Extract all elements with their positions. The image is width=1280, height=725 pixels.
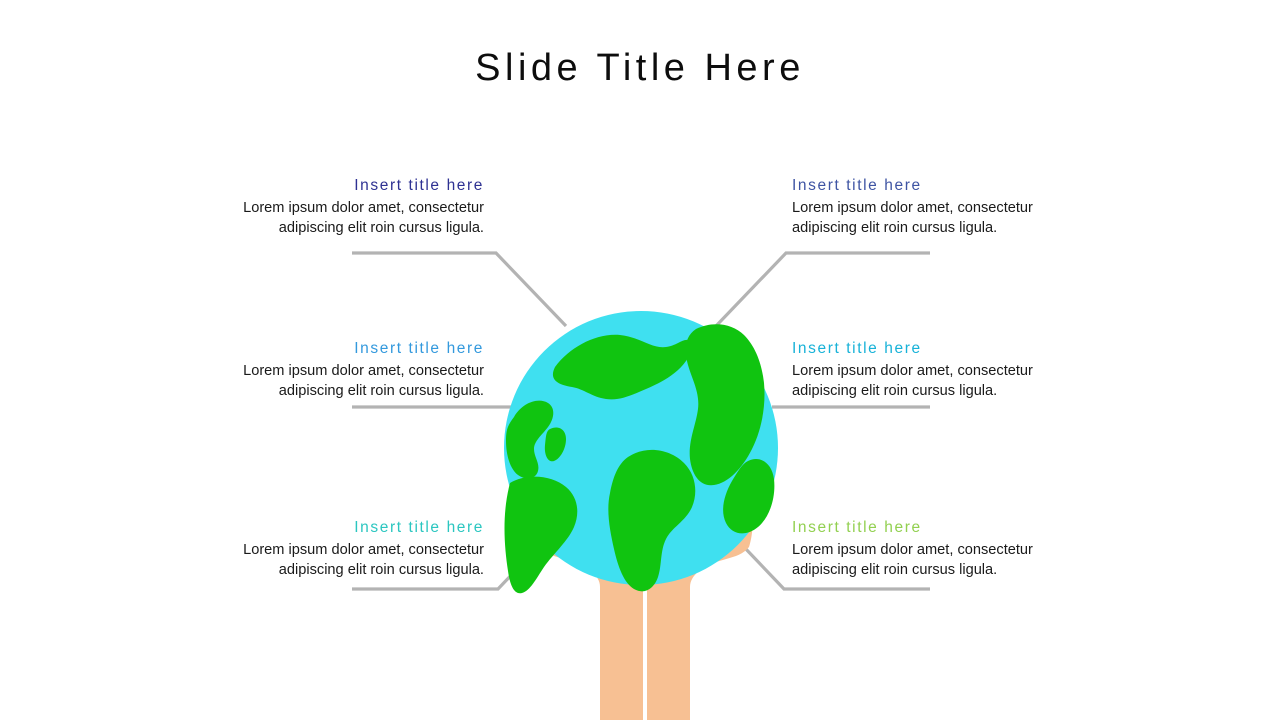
block-title-mid-left: Insert title here	[214, 339, 484, 358]
info-block-top-right[interactable]: Insert title here Lorem ipsum dolor amet…	[792, 176, 1062, 238]
slide-canvas: Slide Title Here	[0, 0, 1280, 720]
info-block-mid-left[interactable]: Insert title here Lorem ipsum dolor amet…	[214, 339, 484, 401]
block-body-mid-right: Lorem ipsum dolor amet, consectetur adip…	[792, 362, 1062, 401]
block-title-bot-left: Insert title here	[214, 518, 484, 537]
block-title-bot-right: Insert title here	[792, 518, 1062, 537]
block-body-bot-left: Lorem ipsum dolor amet, consectetur adip…	[214, 541, 484, 580]
block-title-top-left: Insert title here	[214, 176, 484, 195]
block-body-top-right: Lorem ipsum dolor amet, consectetur adip…	[792, 199, 1062, 238]
block-body-mid-left: Lorem ipsum dolor amet, consectetur adip…	[214, 362, 484, 401]
block-body-top-left: Lorem ipsum dolor amet, consectetur adip…	[214, 199, 484, 238]
block-title-top-right: Insert title here	[792, 176, 1062, 195]
hands-holding-globe-illustration	[500, 305, 790, 720]
info-block-mid-right[interactable]: Insert title here Lorem ipsum dolor amet…	[792, 339, 1062, 401]
block-body-bot-right: Lorem ipsum dolor amet, consectetur adip…	[792, 541, 1062, 580]
info-block-bot-right[interactable]: Insert title here Lorem ipsum dolor amet…	[792, 518, 1062, 580]
info-block-bot-left[interactable]: Insert title here Lorem ipsum dolor amet…	[214, 518, 484, 580]
page-title: Slide Title Here	[0, 46, 1280, 92]
info-block-top-left[interactable]: Insert title here Lorem ipsum dolor amet…	[214, 176, 484, 238]
block-title-mid-right: Insert title here	[792, 339, 1062, 358]
